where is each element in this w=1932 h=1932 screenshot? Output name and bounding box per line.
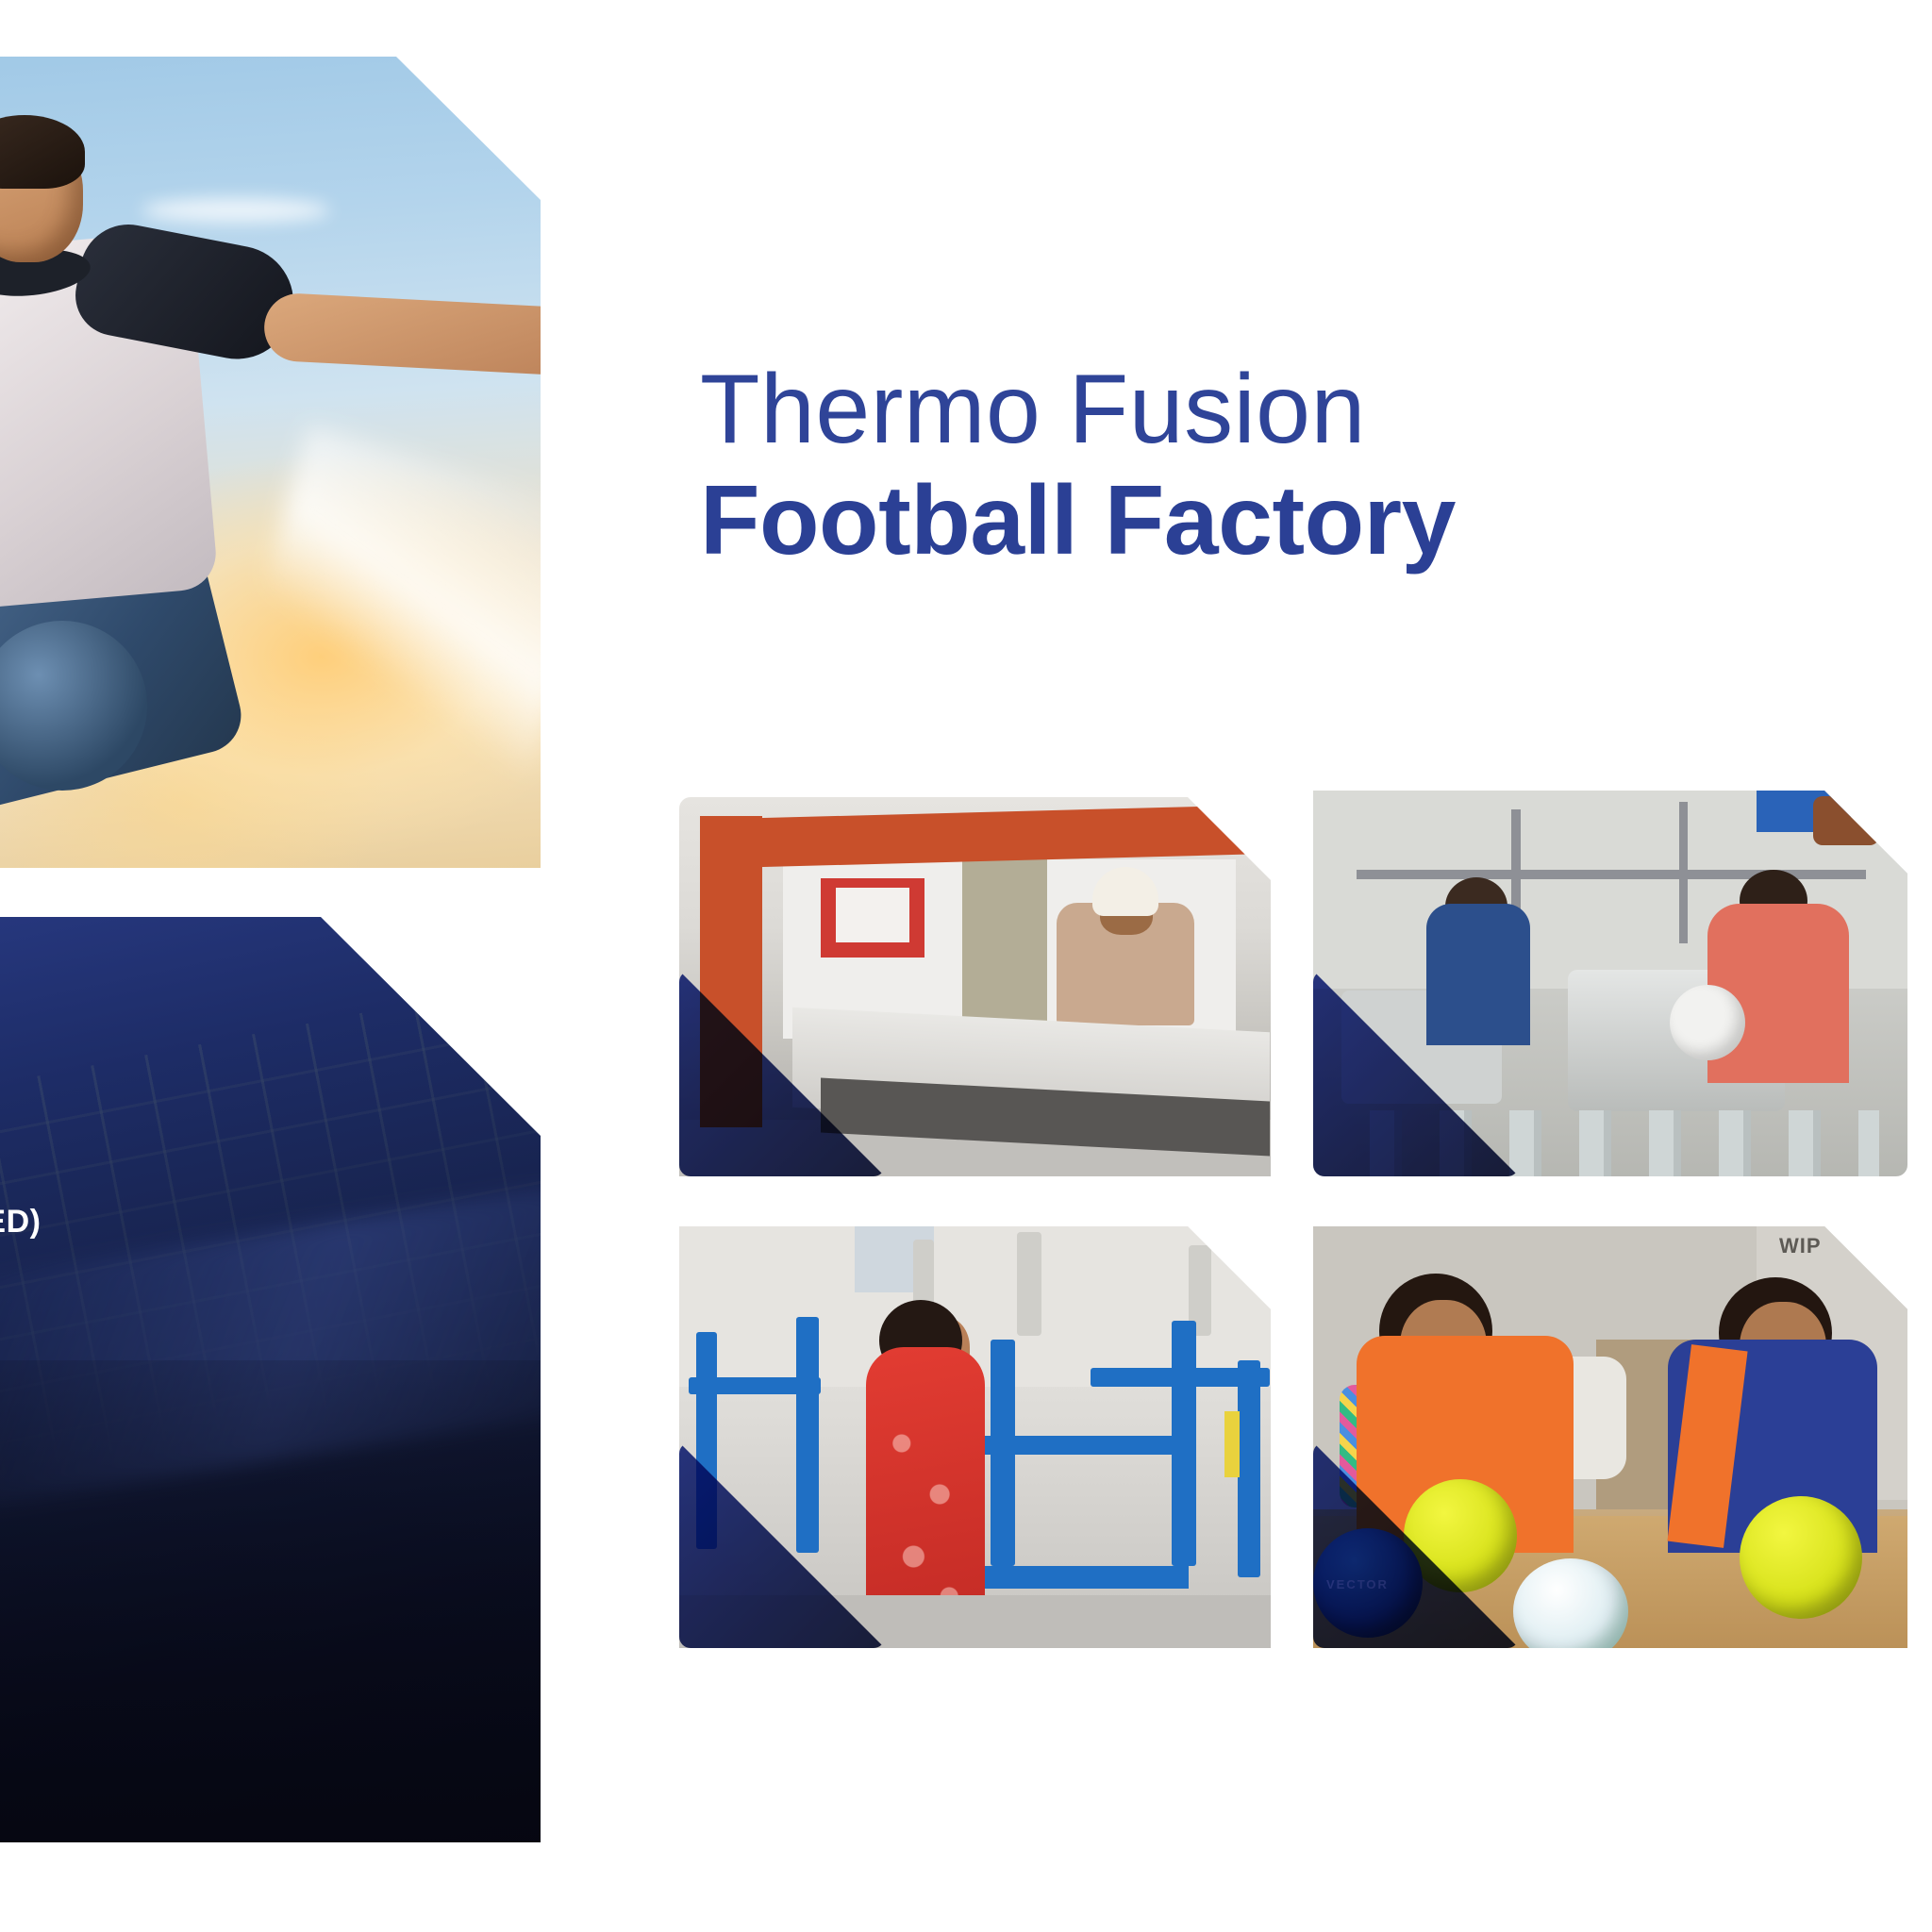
wip-shelf-label: WIP bbox=[1779, 1234, 1822, 1258]
press-column bbox=[962, 852, 1047, 1031]
machine-label bbox=[1224, 1411, 1240, 1477]
athlete-hair bbox=[0, 115, 85, 189]
photo-cell-press-machines[interactable] bbox=[679, 1226, 1271, 1648]
athlete-arm bbox=[262, 291, 541, 375]
left-hero-panel: YERED) n R bbox=[0, 57, 541, 1842]
worker-body bbox=[1426, 904, 1530, 1045]
operator-saree bbox=[866, 1347, 985, 1630]
background-worker bbox=[1813, 796, 1879, 845]
title-line-football-factory: Football Factory bbox=[700, 466, 1456, 575]
cloud-wisp-icon bbox=[142, 198, 330, 223]
press-frame bbox=[1172, 1321, 1196, 1566]
press-frame bbox=[796, 1317, 819, 1553]
page-title: Thermo Fusion Football Factory bbox=[700, 357, 1456, 576]
navy-angular-overlay bbox=[0, 917, 541, 1842]
wall-sign bbox=[821, 878, 924, 958]
yellow-football bbox=[1740, 1496, 1862, 1619]
press-cylinder bbox=[1017, 1232, 1041, 1336]
photo-cell-ball-finishing[interactable]: WIP VECTOR bbox=[1313, 1226, 1907, 1648]
factory-photo-grid: WIP VECTOR bbox=[679, 797, 1906, 1648]
panel-ball bbox=[1670, 985, 1745, 1060]
light-streak-icon bbox=[231, 425, 541, 782]
athlete-kicking-ball-sky-photo bbox=[0, 57, 541, 868]
clipped-text-layered: YERED) bbox=[0, 1204, 41, 1241]
photo-cell-stitching-line[interactable] bbox=[1313, 791, 1907, 1176]
title-line-thermo-fusion: Thermo Fusion bbox=[700, 357, 1456, 462]
press-bench bbox=[962, 1566, 1189, 1589]
overlay-shadow bbox=[0, 1360, 541, 1842]
press-frame bbox=[972, 1436, 1189, 1455]
photo-cell-thermo-press[interactable] bbox=[679, 797, 1271, 1176]
press-frame bbox=[1238, 1360, 1260, 1577]
